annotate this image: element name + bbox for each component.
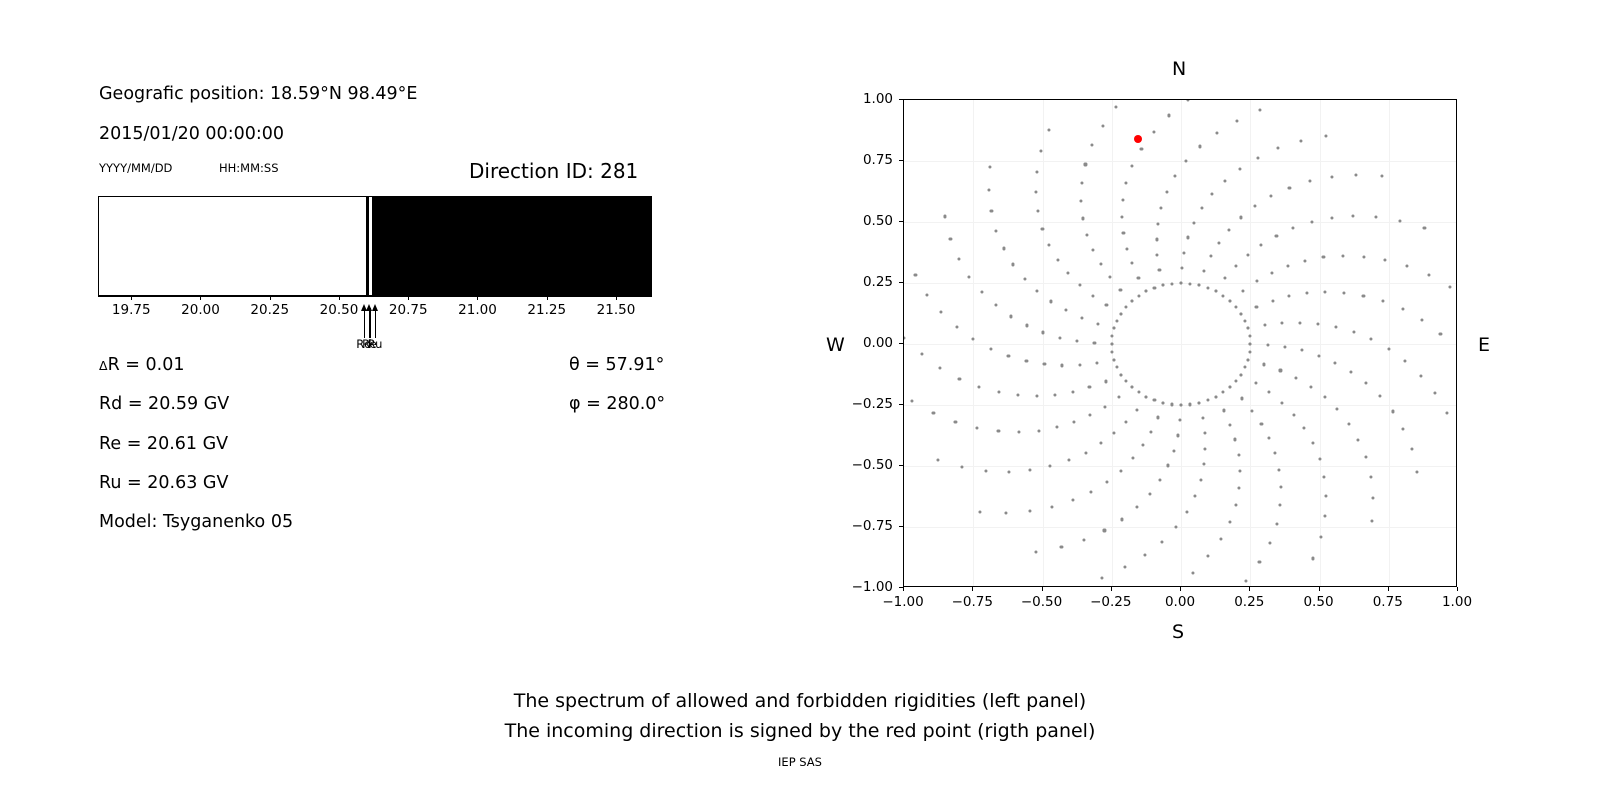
direction-point: [1091, 144, 1094, 147]
direction-point: [1280, 485, 1283, 488]
direction-point: [1235, 119, 1238, 122]
direction-point: [1099, 263, 1102, 266]
direction-point: [1064, 309, 1067, 312]
direction-point: [1298, 321, 1301, 324]
direction-point: [1445, 412, 1448, 415]
direction-point: [1160, 206, 1163, 209]
direction-point: [1124, 566, 1127, 569]
gridline-horizontal: [904, 344, 1456, 345]
direction-point: [958, 377, 961, 380]
direction-point: [1136, 506, 1139, 509]
direction-point: [1239, 312, 1242, 315]
direction-point: [1324, 291, 1327, 294]
direction-point: [1283, 345, 1286, 348]
direction-point: [1228, 386, 1231, 389]
y-tick-mark: [899, 404, 903, 405]
gridline-horizontal: [904, 161, 1456, 162]
direction-point: [1224, 277, 1227, 280]
direction-point: [1309, 385, 1312, 388]
direction-point: [1370, 337, 1373, 340]
direction-point: [903, 336, 906, 339]
direction-point: [1228, 228, 1231, 231]
direction-point: [1119, 469, 1122, 472]
direction-point: [1043, 363, 1046, 366]
direction-point: [1222, 391, 1225, 394]
direction-point: [1419, 374, 1422, 377]
direction-point: [1036, 210, 1039, 213]
direction-point: [1352, 215, 1355, 218]
direction-point: [936, 459, 939, 462]
direction-point: [1311, 441, 1314, 444]
direction-point: [1334, 361, 1337, 364]
direction-point: [1276, 147, 1279, 150]
direction-point: [1174, 525, 1177, 528]
direction-point: [1281, 401, 1284, 404]
x-tick-mark: [1319, 587, 1320, 591]
direction-point: [1238, 486, 1241, 489]
direction-point: [1387, 347, 1390, 350]
direction-point: [1260, 243, 1263, 246]
direction-point: [1299, 139, 1302, 142]
direction-point: [1274, 452, 1277, 455]
direction-point: [1047, 128, 1050, 131]
direction-point: [980, 291, 983, 294]
direction-point: [1091, 248, 1094, 251]
direction-point: [1156, 253, 1159, 256]
compass-label-west: W: [826, 334, 845, 356]
direction-point: [1275, 522, 1278, 525]
x-tick-label: 0.75: [1373, 594, 1403, 610]
caption-line-1: The spectrum of allowed and forbidden ri…: [0, 686, 1600, 716]
direction-point: [1149, 430, 1152, 433]
direction-point: [1017, 431, 1020, 434]
direction-point: [1148, 492, 1151, 495]
direction-point: [1199, 479, 1202, 482]
direction-point: [1404, 359, 1407, 362]
direction-point: [1170, 282, 1173, 285]
direction-point: [1330, 175, 1333, 178]
direction-point: [1203, 269, 1206, 272]
direction-point: [1206, 286, 1209, 289]
direction-point: [1050, 300, 1053, 303]
direction-point: [1246, 327, 1249, 330]
direction-point: [1113, 327, 1116, 330]
direction-point: [1091, 294, 1094, 297]
direction-point: [1214, 395, 1217, 398]
direction-point: [1456, 349, 1457, 352]
direction-point: [926, 293, 929, 296]
direction-point: [1271, 299, 1274, 302]
direction-point: [1405, 264, 1408, 267]
direction-point: [1115, 105, 1118, 108]
direction-point: [1234, 503, 1237, 506]
direction-point: [1084, 163, 1087, 166]
x-tick-label: 0.50: [1303, 594, 1333, 610]
direction-point: [1288, 186, 1291, 189]
direction-point: [1103, 529, 1106, 532]
direction-point: [1228, 299, 1231, 302]
direction-point: [1152, 130, 1155, 133]
direction-point: [1110, 342, 1113, 345]
compass-label-north: N: [1172, 58, 1186, 80]
direction-point: [1029, 468, 1032, 471]
direction-point: [1125, 247, 1128, 250]
direction-point: [1056, 258, 1059, 261]
direction-point: [1211, 192, 1214, 195]
direction-point: [1324, 134, 1327, 137]
direction-point: [1303, 427, 1306, 430]
direction-point: [1007, 355, 1010, 358]
direction-point: [1193, 494, 1196, 497]
direction-point: [1352, 330, 1355, 333]
direction-point: [1263, 363, 1266, 366]
x-tick-mark: [1457, 587, 1458, 591]
y-tick-label: 0.25: [845, 274, 893, 290]
direction-point: [1071, 499, 1074, 502]
direction-point: [1222, 409, 1225, 412]
direction-point: [1028, 509, 1031, 512]
x-tick-mark: [903, 587, 904, 591]
y-tick-label: 0.75: [845, 152, 893, 168]
direction-point: [1228, 520, 1231, 523]
direction-point: [1319, 535, 1322, 538]
direction-point: [1246, 358, 1249, 361]
direction-point: [939, 366, 942, 369]
direction-point: [1119, 373, 1122, 376]
direction-point: [1279, 503, 1282, 506]
direction-point: [1025, 324, 1028, 327]
direction-point: [1125, 380, 1128, 383]
direction-point: [1140, 147, 1143, 150]
direction-point: [1079, 200, 1082, 203]
direction-point: [1238, 167, 1241, 170]
direction-point: [955, 326, 958, 329]
direction-point: [989, 165, 992, 168]
direction-point: [1105, 480, 1108, 483]
direction-point: [943, 215, 946, 218]
direction-point: [1268, 437, 1271, 440]
direction-point: [1365, 381, 1368, 384]
direction-point: [1292, 226, 1295, 229]
direction-point: [1055, 426, 1058, 429]
direction-point: [957, 257, 960, 260]
direction-point: [1145, 290, 1148, 293]
direction-point: [1433, 392, 1436, 395]
x-tick-mark: [1249, 587, 1250, 591]
direction-point: [1035, 171, 1038, 174]
gridline-vertical: [1181, 100, 1182, 586]
direction-point: [1073, 420, 1076, 423]
direction-point: [1034, 191, 1037, 194]
direction-point: [1162, 401, 1165, 404]
direction-point: [994, 304, 997, 307]
direction-point: [1209, 255, 1212, 258]
y-tick-mark: [899, 282, 903, 283]
direction-point: [1381, 300, 1384, 303]
direction-point: [990, 209, 993, 212]
direction-point: [1061, 364, 1064, 367]
direction-point: [1201, 416, 1204, 419]
caption-line-2: The incoming direction is signed by the …: [0, 716, 1600, 746]
direction-point: [1180, 266, 1183, 269]
direction-point: [1078, 363, 1081, 366]
figure-caption: The spectrum of allowed and forbidden ri…: [0, 686, 1600, 746]
direction-point: [1374, 216, 1377, 219]
gridline-horizontal: [904, 466, 1456, 467]
direction-point: [1188, 282, 1191, 285]
direction-point: [1427, 273, 1430, 276]
gridline-vertical: [973, 100, 974, 586]
direction-point: [1111, 350, 1114, 353]
direction-point: [1237, 453, 1240, 456]
direction-point: [1270, 272, 1273, 275]
direction-point: [1048, 244, 1051, 247]
direction-point: [1155, 238, 1158, 241]
direction-point: [1179, 281, 1182, 284]
direction-point: [1113, 358, 1116, 361]
direction-point: [1088, 386, 1091, 389]
direction-point: [1080, 316, 1083, 319]
gridline-horizontal: [904, 527, 1456, 528]
direction-point: [1369, 475, 1372, 478]
direction-point: [1308, 180, 1311, 183]
direction-point: [1071, 390, 1074, 393]
direction-point: [1362, 294, 1365, 297]
direction-point: [1122, 231, 1125, 234]
direction-point: [1286, 265, 1289, 268]
direction-point: [1009, 315, 1012, 318]
x-tick-label: 1.00: [1442, 594, 1472, 610]
direction-point: [1234, 265, 1237, 268]
direction-point: [961, 466, 964, 469]
direction-point: [1410, 448, 1413, 451]
y-tick-mark: [899, 343, 903, 344]
y-tick-label: −0.25: [845, 396, 893, 412]
x-tick-mark: [1111, 587, 1112, 591]
direction-point: [1214, 290, 1217, 293]
x-tick-label: 0.25: [1234, 594, 1264, 610]
direction-point: [1258, 109, 1261, 112]
direction-point: [1249, 342, 1252, 345]
direction-point: [1197, 401, 1200, 404]
direction-point: [1197, 284, 1200, 287]
y-tick-mark: [899, 526, 903, 527]
direction-point: [1179, 403, 1182, 406]
direction-point: [1153, 286, 1156, 289]
direction-point: [1218, 241, 1221, 244]
direction-point: [1234, 380, 1237, 383]
x-tick-mark: [1388, 587, 1389, 591]
direction-point: [1067, 272, 1070, 275]
direction-point: [1223, 179, 1226, 182]
direction-point: [1222, 294, 1225, 297]
direction-point: [1258, 561, 1261, 564]
direction-point: [1083, 538, 1086, 541]
direction-point: [1119, 312, 1122, 315]
direction-point: [1085, 233, 1088, 236]
direction-point: [1234, 438, 1237, 441]
direction-point: [1053, 393, 1056, 396]
direction-point: [1158, 269, 1161, 272]
direction-point: [1207, 555, 1210, 558]
direction-point: [1121, 518, 1124, 521]
direction-point: [978, 510, 981, 513]
y-tick-mark: [899, 221, 903, 222]
direction-point: [1137, 294, 1140, 297]
direction-point: [1111, 334, 1114, 337]
direction-point: [1007, 470, 1010, 473]
direction-point: [1268, 391, 1271, 394]
direction-point: [1002, 247, 1005, 250]
direction-point: [1423, 226, 1426, 229]
direction-point: [1137, 391, 1140, 394]
x-tick-mark: [1180, 587, 1181, 591]
incoming-direction-point: [1134, 135, 1142, 143]
direction-point: [1084, 451, 1087, 454]
direction-point: [1281, 322, 1284, 325]
direction-point: [1336, 408, 1339, 411]
direction-point: [1240, 397, 1243, 400]
direction-point: [1239, 373, 1242, 376]
direction-point: [1016, 394, 1019, 397]
direction-point: [1323, 396, 1326, 399]
direction-point: [1174, 175, 1177, 178]
direction-point: [1243, 319, 1246, 322]
direction-point: [1176, 434, 1179, 437]
direction-point: [1330, 216, 1333, 219]
direction-point: [1076, 340, 1079, 343]
direction-point: [1051, 505, 1054, 508]
y-tick-label: 1.00: [845, 91, 893, 107]
direction-point: [1310, 220, 1313, 223]
direction-point: [1241, 289, 1244, 292]
y-tick-label: 0.00: [845, 335, 893, 351]
direction-point: [1234, 305, 1237, 308]
direction-point: [1268, 541, 1271, 544]
direction-point: [1254, 205, 1257, 208]
direction-point: [1121, 199, 1124, 202]
direction-point: [1204, 447, 1207, 450]
direction-point: [1156, 222, 1159, 225]
direction-point: [1081, 217, 1084, 220]
direction-point: [1135, 408, 1138, 411]
direction-point: [1096, 361, 1099, 364]
direction-point: [1168, 114, 1171, 117]
direction-point: [1115, 366, 1118, 369]
direction-point: [1288, 295, 1291, 298]
direction-point: [1380, 175, 1383, 178]
direction-point: [1350, 370, 1353, 373]
footer-credit: IEP SAS: [0, 755, 1600, 769]
direction-point: [1370, 519, 1373, 522]
direction-point: [1292, 413, 1295, 416]
direction-point: [1343, 291, 1346, 294]
direction-point: [1162, 284, 1165, 287]
direction-point: [1012, 263, 1015, 266]
direction-point: [1096, 322, 1099, 325]
direction-point: [1125, 305, 1128, 308]
y-tick-mark: [899, 465, 903, 466]
direction-point: [1089, 413, 1092, 416]
direction-point: [914, 273, 917, 276]
right-panel: N E S W −1.00−0.75−0.50−0.250.000.250.50…: [0, 0, 1600, 660]
direction-point: [1219, 538, 1222, 541]
direction-point: [1130, 299, 1133, 302]
gridline-vertical: [1320, 100, 1321, 586]
direction-point: [1183, 251, 1186, 254]
direction-point: [1305, 292, 1308, 295]
direction-point: [1318, 458, 1321, 461]
direction-point: [997, 391, 1000, 394]
direction-point: [1089, 490, 1092, 493]
direction-point: [1125, 420, 1128, 423]
direction-point: [1172, 449, 1175, 452]
direction-point: [1101, 576, 1104, 579]
direction-point: [1279, 369, 1282, 372]
direction-point: [1104, 380, 1107, 383]
direction-point: [1130, 262, 1133, 265]
direction-point: [1203, 432, 1206, 435]
y-tick-mark: [899, 160, 903, 161]
direction-point: [1270, 195, 1273, 198]
direction-point: [1115, 319, 1118, 322]
direction-point: [1251, 409, 1254, 412]
y-tick-label: −0.50: [845, 457, 893, 473]
direction-point: [1131, 165, 1134, 168]
direction-point: [1119, 288, 1122, 291]
direction-point: [1312, 557, 1315, 560]
direction-point: [1355, 174, 1358, 177]
direction-point: [1191, 571, 1194, 574]
direction-point: [1141, 444, 1144, 447]
y-tick-mark: [899, 99, 903, 100]
direction-point: [1391, 410, 1394, 413]
compass-label-south: S: [1172, 621, 1184, 643]
direction-point: [1130, 386, 1133, 389]
direction-point: [1256, 156, 1259, 159]
direction-point: [1379, 394, 1382, 397]
direction-point: [1131, 457, 1134, 460]
direction-point: [1158, 478, 1161, 481]
y-tick-label: −1.00: [845, 579, 893, 595]
direction-point: [1099, 442, 1102, 445]
direction-point: [968, 275, 971, 278]
direction-point: [1334, 325, 1337, 328]
direction-point: [1240, 216, 1243, 219]
direction-point: [976, 427, 979, 430]
direction-point: [1266, 343, 1269, 346]
direction-point: [1187, 236, 1190, 239]
direction-point: [1160, 540, 1163, 543]
direction-point: [1341, 254, 1344, 257]
direction-point: [1035, 394, 1038, 397]
direction-point: [1304, 259, 1307, 262]
direction-point: [1060, 546, 1063, 549]
direction-point: [989, 347, 992, 350]
direction-point: [1278, 468, 1281, 471]
x-tick-label: −1.00: [882, 594, 923, 610]
direction-point: [1238, 469, 1241, 472]
direction-point: [1080, 182, 1083, 185]
direction-point: [1294, 376, 1297, 379]
direction-point: [1383, 258, 1386, 261]
direction-point: [1243, 366, 1246, 369]
direction-point: [1078, 284, 1081, 287]
direction-point: [1153, 399, 1156, 402]
x-tick-label: −0.50: [1021, 594, 1062, 610]
direction-point: [1185, 510, 1188, 513]
direction-point: [1137, 276, 1140, 279]
